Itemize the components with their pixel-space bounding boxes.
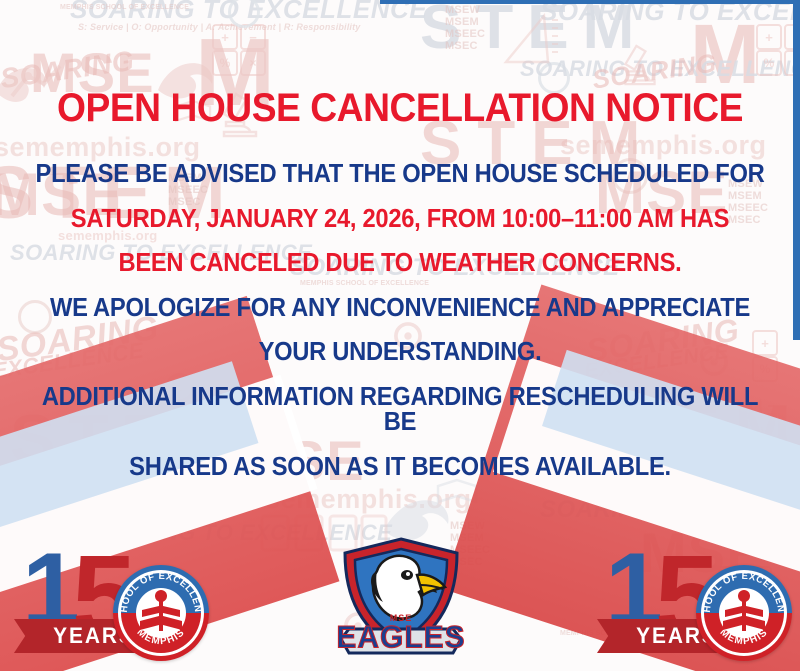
notice-line-5: YOUR UNDERSTANDING.	[28, 340, 772, 366]
school-seal-left: SCHOOL OF EXCELLENCE MEMPHIS	[113, 565, 209, 661]
notice-line-2: SATURDAY, JANUARY 24, 2026, FROM 10:00–1…	[28, 207, 772, 233]
cancellation-notice-poster: SOARING TO EXCELLENCE S: Service | O: Op…	[0, 0, 800, 671]
school-seal-right: SCHOOL OF EXCELLENCE MEMPHIS	[696, 565, 792, 661]
notice-message: OPEN HOUSE CANCELLATION NOTICE PLEASE BE…	[0, 0, 800, 480]
notice-line-1: PLEASE BE ADVISED THAT THE OPEN HOUSE SC…	[28, 162, 772, 188]
seal-book-icon	[719, 589, 769, 637]
notice-line-4: WE APOLOGIZE FOR ANY INCONVENIENCE AND A…	[28, 296, 772, 322]
eagles-name: EAGLES	[333, 622, 469, 654]
page-title: OPEN HOUSE CANCELLATION NOTICE	[28, 88, 772, 128]
notice-line-7: SHARED AS SOON AS IT BECOMES AVAILABLE.	[28, 455, 772, 481]
eagles-logo: MSE EAGLES	[333, 535, 469, 663]
seal-book-icon	[136, 589, 186, 637]
notice-line-6: ADDITIONAL INFORMATION REGARDING RESCHED…	[28, 385, 772, 436]
notice-line-3: BEEN CANCELED DUE TO WEATHER CONCERNS.	[28, 251, 772, 277]
eagles-wordmark: MSE EAGLES	[333, 614, 469, 653]
